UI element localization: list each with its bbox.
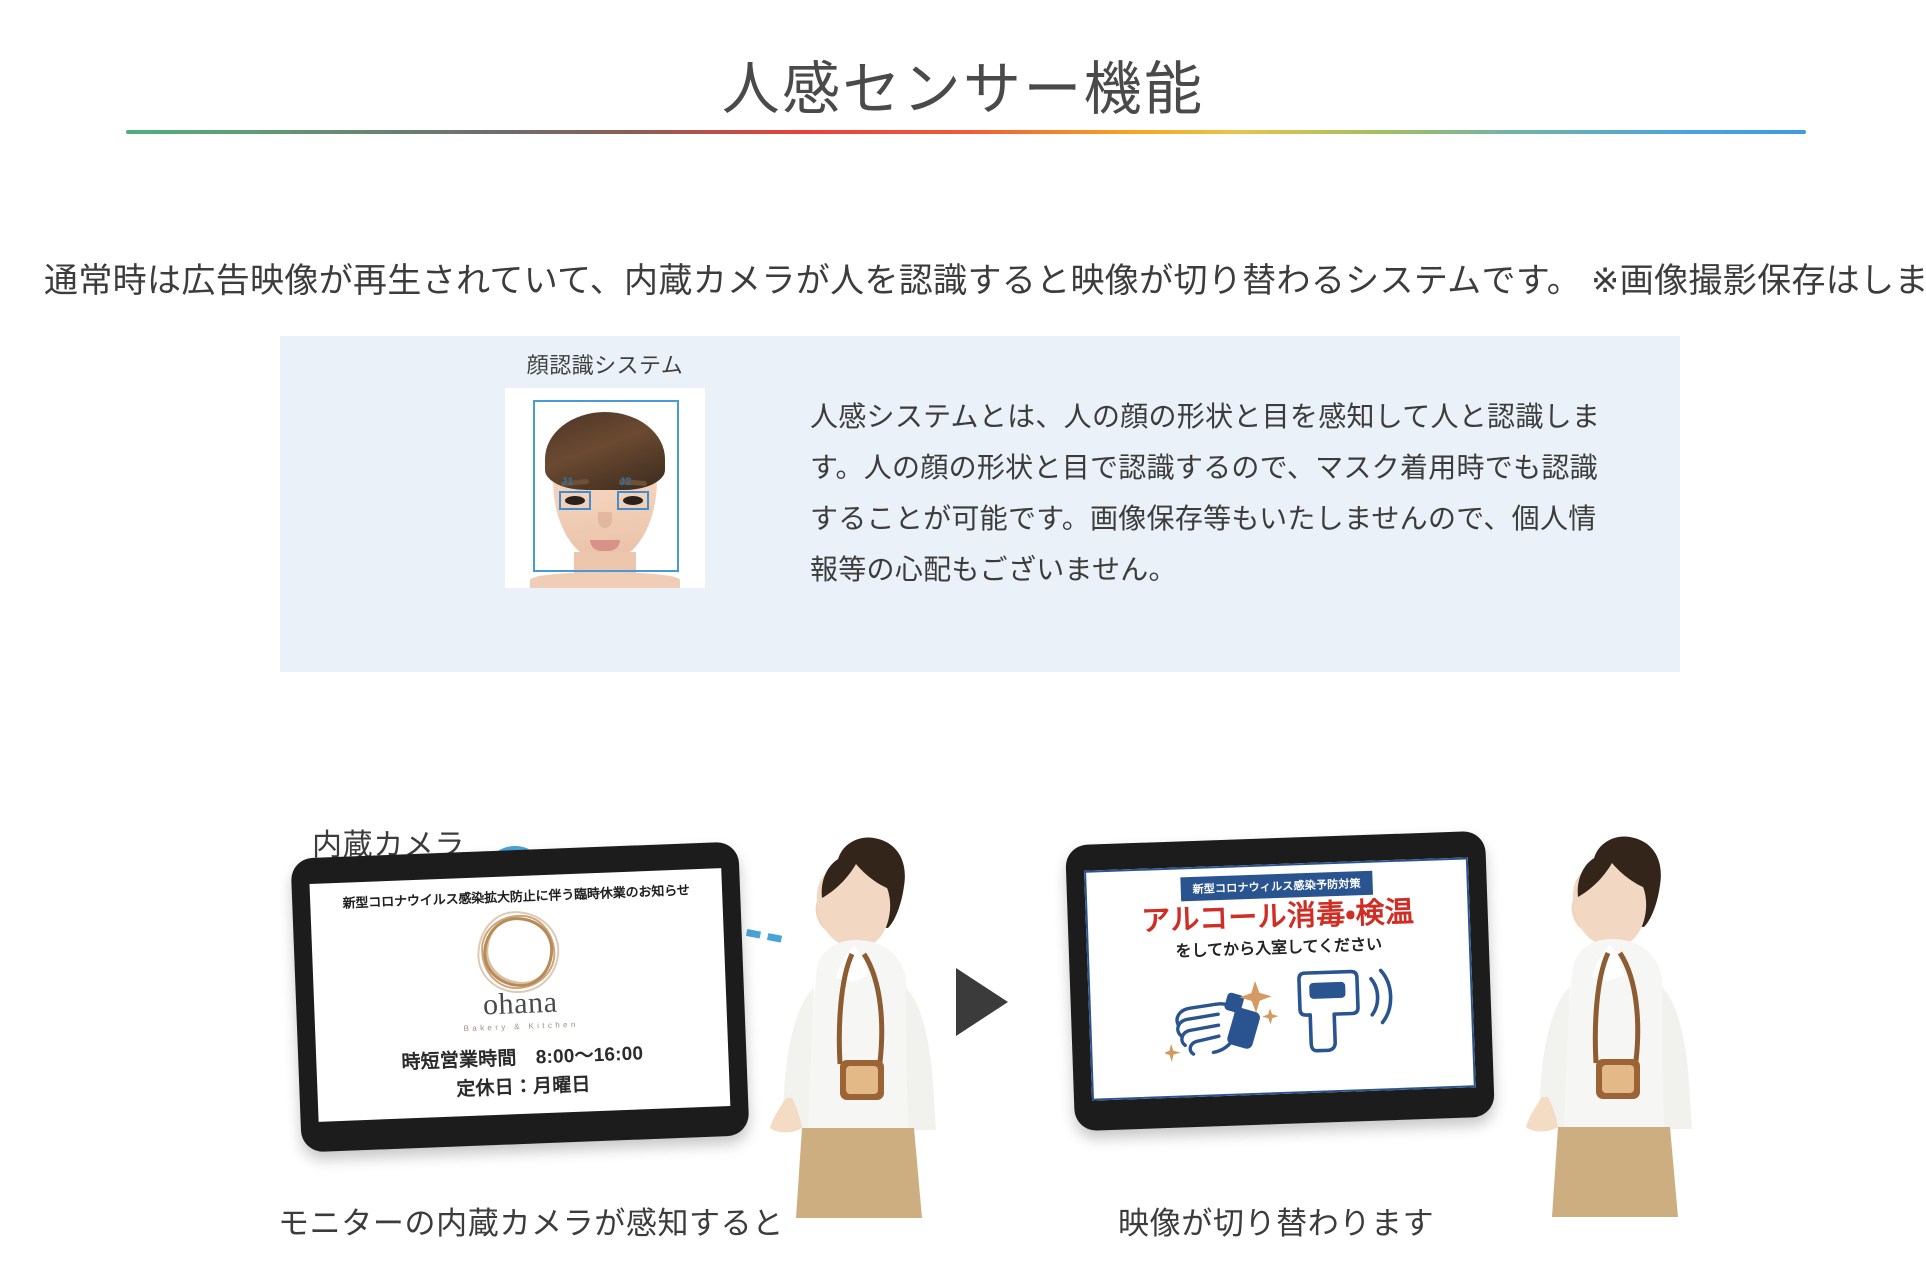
eye-detection-label-j2: J2 (619, 476, 632, 488)
monitor-before-screen: 新型コロナウイルス感染拡大防止に伴う臨時休業のお知らせ ohana Bakery… (310, 868, 731, 1122)
face-recognition-figure: 顔認識システム J1 J2 (460, 348, 750, 588)
face-recognition-description: 人感システムとは、人の顔の形状と目を感知して人と認識します。人の顔の形状と目で認… (810, 392, 1610, 596)
caption-before: モニターの内蔵カメラが感知すると (278, 1198, 784, 1243)
transition-arrow-icon (956, 968, 1008, 1036)
face-photo: J1 J2 (505, 388, 705, 588)
covid-prevention-notice: 新型コロナウィルス感染予防対策 アルコール消毒・検温 をしてから入室してください (1084, 857, 1476, 1100)
covid-icon-row (1090, 958, 1473, 1067)
person-illustration-left (756, 828, 946, 1218)
person-figure-left (756, 828, 946, 1218)
ohana-advertisement: 新型コロナウイルス感染拡大防止に伴う臨時休業のお知らせ ohana Bakery… (310, 868, 731, 1122)
monitor-before: 新型コロナウイルス感染拡大防止に伴う臨時休業のお知らせ ohana Bakery… (291, 842, 750, 1153)
title-divider (126, 130, 1806, 134)
hand-sanitizer-icon (1162, 964, 1281, 1064)
monitor-after-screen: 新型コロナウィルス感染予防対策 アルコール消毒・検温 をしてから入室してください (1084, 857, 1476, 1100)
sensor-flow-diagram: 内蔵カメラ 新型コロナウイルス感染拡大防止に伴う臨時休業のお知らせ ohana … (0, 800, 1926, 1272)
monitor-after: 新型コロナウィルス感染予防対策 アルコール消毒・検温 をしてから入室してください (1065, 831, 1495, 1131)
eye-detection-label-j1: J1 (561, 476, 574, 488)
person-illustration-right (1512, 826, 1702, 1218)
face-shoulder (530, 572, 680, 588)
person-figure-right (1512, 826, 1702, 1218)
face-detection-box (533, 400, 679, 572)
ohana-logo-icon (482, 916, 555, 989)
page-title: 人感センサー機能 (0, 57, 1926, 124)
eye-detection-box-j2 (617, 491, 649, 510)
forehead-thermometer-icon (1292, 962, 1399, 1058)
face-recognition-caption: 顔認識システム (460, 348, 750, 380)
intro-paragraph: 通常時は広告映像が再生されていて、内蔵カメラが人を認識すると映像が切り替わるシス… (44, 256, 1904, 307)
covid-badge: 新型コロナウィルス感染予防対策 (1180, 871, 1373, 902)
eye-detection-box-j1 (559, 491, 591, 510)
ohana-notice-headline: 新型コロナウイルス感染拡大防止に伴う臨時休業のお知らせ (310, 878, 722, 913)
caption-after: 映像が切り替わります (1118, 1198, 1434, 1243)
face-recognition-info-panel: 顔認識システム J1 J2 人感システムとは、人の顔の形状と目を感知して人と認識… (280, 336, 1680, 672)
